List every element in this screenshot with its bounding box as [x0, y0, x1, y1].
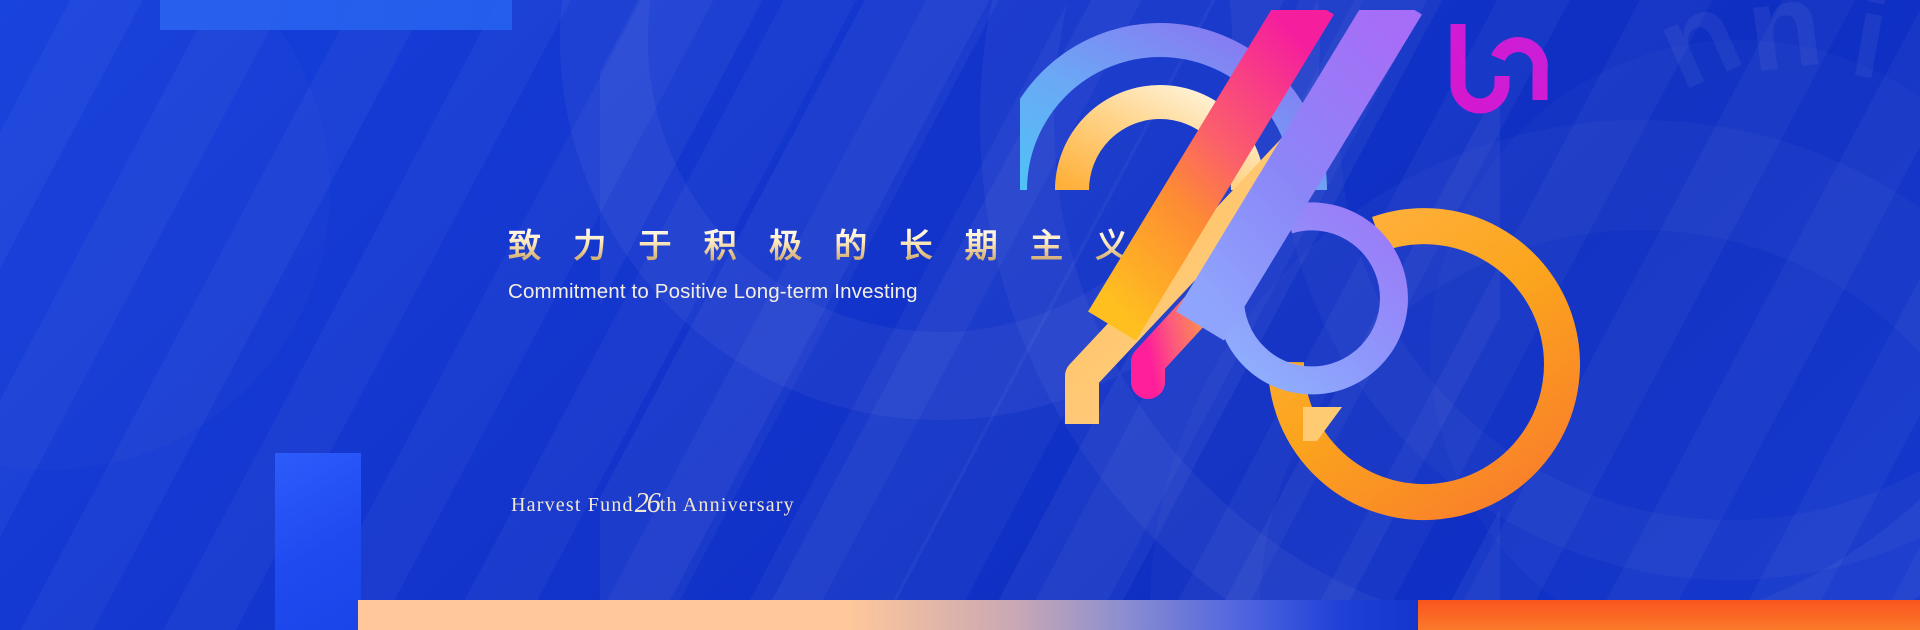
bottom-peach-bar: [358, 600, 1418, 630]
anniversary-number: 26: [634, 488, 660, 520]
bottom-orange-bar: [1418, 600, 1920, 630]
anniversary-signature: Harvest Fund 26 th Anniversary: [511, 487, 795, 519]
watermark-anniversary-text: nniver: [1560, 0, 1920, 630]
anniversary-logo-mark: [1020, 10, 1580, 550]
watermark-letter: n: [1637, 0, 1760, 117]
watermark-letter: i: [1842, 0, 1899, 107]
ordinal-suffix-th: [1444, 24, 1540, 106]
left-accent-bar: [275, 453, 361, 630]
background-blob-left: [0, 0, 330, 470]
watermark-letter: n: [1739, 0, 1829, 100]
anniversary-suffix: th Anniversary: [660, 494, 795, 517]
anniversary-prefix: Harvest Fund: [511, 494, 634, 517]
top-accent-bar: [160, 0, 512, 30]
anniversary-banner: nniver 致 力 于 积 极 的 长 期 主 义 Commitment to…: [0, 0, 1920, 630]
watermark-letter: v: [1887, 0, 1920, 153]
background-diagonal-stripes: [0, 0, 1920, 630]
